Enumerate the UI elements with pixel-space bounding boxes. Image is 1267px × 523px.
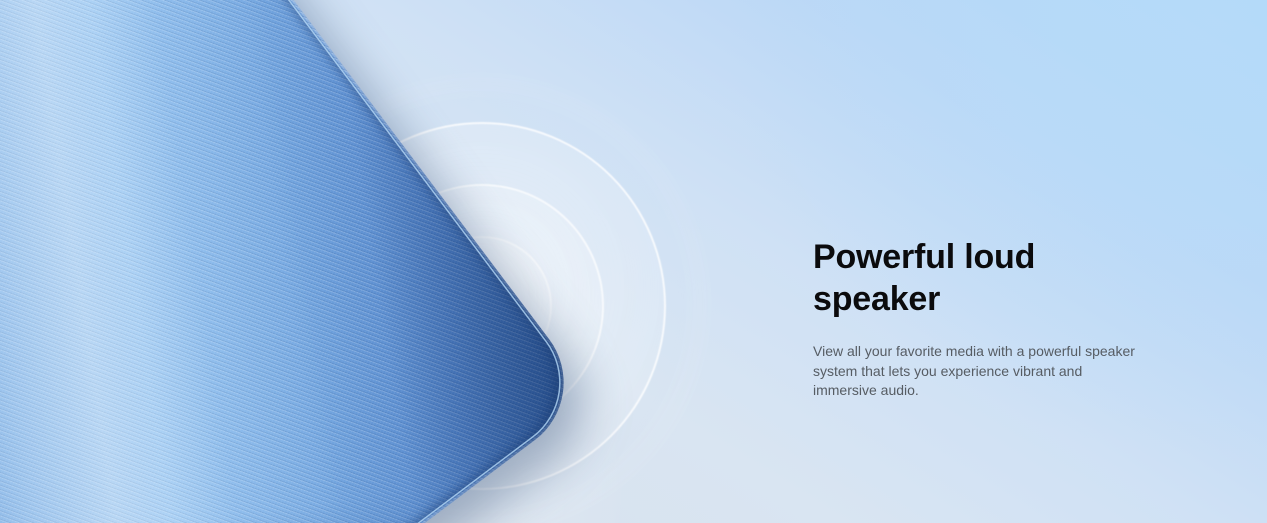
feature-banner: Powerful loud speaker View all your favo… [0, 0, 1267, 523]
smartphone-rear-panel [0, 0, 592, 523]
phone-body [0, 0, 592, 523]
feature-description: View all your favorite media with a powe… [813, 320, 1149, 401]
phone-rim-light [0, 0, 592, 523]
feature-copy-block: Powerful loud speaker View all your favo… [813, 236, 1163, 401]
feature-headline: Powerful loud speaker [813, 236, 1163, 320]
